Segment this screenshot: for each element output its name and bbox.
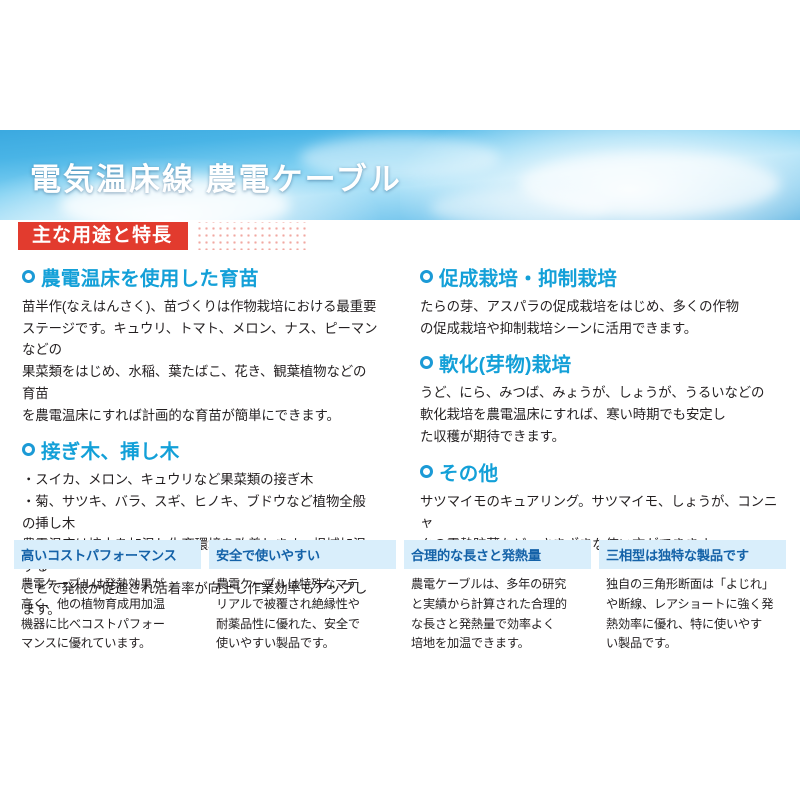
section-title: 軟化(芽物)栽培 [439,348,571,377]
ring-bullet-icon [22,443,35,456]
body-line: 培地を加温できます。 [411,634,584,654]
feature-box: 三相型は独特な製品です 独自の三角形断面は「よじれ」 や断線、レアショートに強く… [599,540,786,654]
section-title: 接ぎ木、挿し木 [41,435,180,464]
body-line: リアルで被覆され絶縁性や [216,595,389,615]
feature-title: 三相型は独特な製品です [599,540,786,569]
feature-box: 安全で使いやすい 農電ケーブルは特殊なマテ リアルで被覆され絶縁性や 耐薬品性に… [209,540,396,654]
body-line: 機器に比べコストパフォー [21,615,194,635]
ring-bullet-icon [22,270,35,283]
body-line: い製品です。 [606,634,779,654]
section-title: 農電温床を使用した育苗 [41,262,259,291]
section-title: その他 [439,457,498,486]
body-line: 農電ケーブルは発熱効果が [21,575,194,595]
ring-bullet-icon [420,270,433,283]
page-root: 電気温床線 農電ケーブル 主な用途と特長 農電温床を使用した育苗 苗半作(なえは… [0,0,800,800]
ring-bullet-icon [420,465,433,478]
cloud-shape [520,152,780,216]
ring-bullet-icon [420,356,433,369]
section-subheader: 主な用途と特長 [0,222,800,256]
feature-body: 独自の三角形断面は「よじれ」 や断線、レアショートに強く発 熱効率に優れ、特に使… [599,569,786,654]
body-line: ・スイカ、メロン、キュウリなど果菜類の接ぎ木 [22,469,378,491]
section-heading: 促成栽培・抑制栽培 [420,262,780,291]
section-block: 軟化(芽物)栽培 うど、にら、みつば、みょうが、しょうが、うるいなどの 軟化栽培… [420,348,780,447]
header-banner: 電気温床線 農電ケーブル [0,130,800,220]
body-line: ステージです。キュウリ、トマト、メロン、ナス、ピーマンなどの [22,318,378,361]
feature-title: 安全で使いやすい [209,540,396,569]
feature-title: 高いコストパフォーマンス [14,540,201,569]
section-block: 農電温床を使用した育苗 苗半作(なえはんさく)、苗づくりは作物栽培における最重要… [22,262,378,426]
body-line: 農電ケーブルは、多年の研究 [411,575,584,595]
body-line: 使いやすい製品です。 [216,634,389,654]
section-block: 促成栽培・抑制栽培 たらの芽、アスパラの促成栽培をはじめ、多くの作物 の促成栽培… [420,262,780,339]
feature-box: 合理的な長さと発熱量 農電ケーブルは、多年の研究 と実績から計算された合理的 な… [404,540,591,654]
feature-box-row: 高いコストパフォーマンス 農電ケーブルは発熱効果が 高く、他の植物育成用加温 機… [0,540,800,654]
section-body: たらの芽、アスパラの促成栽培をはじめ、多くの作物 の促成栽培や抑制栽培シーンに活… [420,296,780,339]
section-body: 苗半作(なえはんさく)、苗づくりは作物栽培における最重要 ステージです。キュウリ… [22,296,378,426]
page-title: 電気温床線 農電ケーブル [30,154,402,199]
body-line: と実績から計算された合理的 [411,595,584,615]
body-line: ・菊、サツキ、バラ、スギ、ヒノキ、ブドウなど植物全般の挿し木 [22,491,378,534]
feature-body: 農電ケーブルは特殊なマテ リアルで被覆され絶縁性や 耐薬品性に優れた、安全で 使… [209,569,396,654]
body-line: マンスに優れています。 [21,634,194,654]
body-line: 独自の三角形断面は「よじれ」 [606,575,779,595]
body-line: や断線、レアショートに強く発 [606,595,779,615]
body-line: サツマイモのキュアリング。サツマイモ、しょうが、コンニャ [420,491,780,534]
body-line: 果菜類をはじめ、水稲、葉たばこ、花き、観葉植物などの育苗 [22,361,378,404]
body-line: 苗半作(なえはんさく)、苗づくりは作物栽培における最重要 [22,296,378,318]
feature-box: 高いコストパフォーマンス 農電ケーブルは発熱効果が 高く、他の植物育成用加温 機… [14,540,201,654]
body-line: うど、にら、みつば、みょうが、しょうが、うるいなどの [420,382,780,404]
section-title: 促成栽培・抑制栽培 [439,262,617,291]
section-heading: 農電温床を使用した育苗 [22,262,378,291]
subheader-tab-label: 主な用途と特長 [18,222,188,250]
body-line: 農電ケーブルは特殊なマテ [216,575,389,595]
feature-body: 農電ケーブルは、多年の研究 と実績から計算された合理的 な長さと発熱量で効率よく… [404,569,591,654]
body-line: 熱効率に優れ、特に使いやす [606,615,779,635]
subheader-dot-pattern [196,222,306,250]
body-line: 耐薬品性に優れた、安全で [216,615,389,635]
body-line: 高く、他の植物育成用加温 [21,595,194,615]
body-line: の促成栽培や抑制栽培シーンに活用できます。 [420,318,780,340]
cloud-shape [430,190,610,220]
body-line: な長さと発熱量で効率よく [411,615,584,635]
body-line: たらの芽、アスパラの促成栽培をはじめ、多くの作物 [420,296,780,318]
feature-title: 合理的な長さと発熱量 [404,540,591,569]
body-line: を農電温床にすれば計画的な育苗が簡単にできます。 [22,405,378,427]
section-heading: 軟化(芽物)栽培 [420,348,780,377]
body-line: た収穫が期待できます。 [420,426,780,448]
section-heading: 接ぎ木、挿し木 [22,435,378,464]
body-line: 軟化栽培を農電温床にすれば、寒い時期でも安定し [420,404,780,426]
section-body: うど、にら、みつば、みょうが、しょうが、うるいなどの 軟化栽培を農電温床にすれば… [420,382,780,447]
section-heading: その他 [420,457,780,486]
feature-body: 農電ケーブルは発熱効果が 高く、他の植物育成用加温 機器に比べコストパフォー マ… [14,569,201,654]
